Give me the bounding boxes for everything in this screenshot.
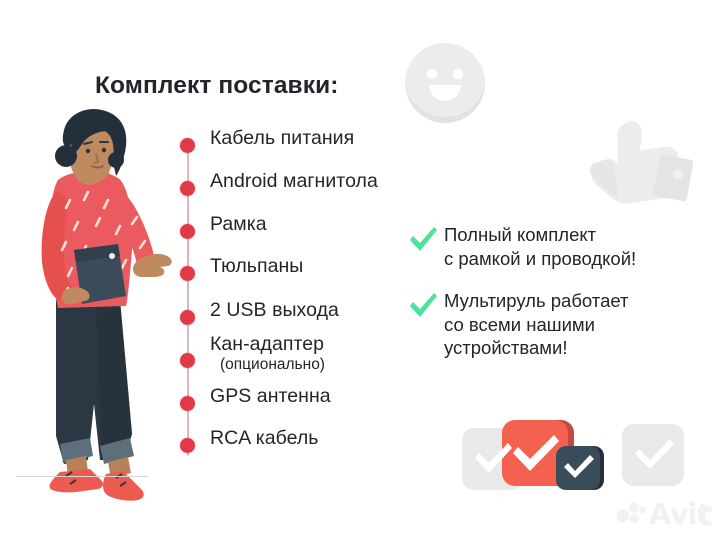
- bullet-dot-icon: [180, 353, 195, 368]
- list-item-label: Тюльпаны: [210, 255, 303, 278]
- woman-with-tablet-illustration: [8, 104, 184, 504]
- smiley-face-icon: [404, 42, 486, 124]
- list-item-label: Android магнитола: [210, 170, 378, 193]
- list-item-label: Кан-адаптер: [210, 333, 324, 356]
- package-list: Кабель питания Android магнитола Рамка Т…: [176, 138, 436, 462]
- check-icon: [632, 438, 676, 472]
- page-title: Комплект поставки:: [95, 72, 339, 100]
- bullet-dot-icon: [180, 138, 195, 153]
- benefit-text: Мультируль работает со всеми нашими устр…: [444, 289, 629, 360]
- bullet-dot-icon: [180, 438, 195, 453]
- benefit-text: Полный комплект с рамкой и проводкой!: [444, 223, 636, 270]
- checkbox-tiles-illustration: [462, 412, 684, 494]
- ground-line: [16, 476, 148, 477]
- check-icon: [408, 292, 438, 320]
- promo-card: Комплект поставки: Кабель питания Androi…: [0, 0, 720, 540]
- list-item-note: (опционально): [220, 356, 325, 374]
- check-icon: [510, 434, 562, 474]
- list-item-label: Кабель питания: [210, 127, 354, 150]
- check-icon: [408, 226, 438, 254]
- list-item-label: Рамка: [210, 213, 267, 236]
- bullet-dot-icon: [180, 266, 195, 281]
- check-icon: [472, 442, 514, 476]
- bullet-dot-icon: [180, 310, 195, 325]
- list-item-label: RCA кабель: [210, 427, 319, 450]
- bullet-dot-icon: [180, 224, 195, 239]
- thumbs-up-icon: [578, 110, 694, 218]
- list-item-label: 2 USB выхода: [210, 299, 339, 322]
- list-item-label: GPS антенна: [210, 385, 331, 408]
- avito-watermark: [616, 500, 712, 526]
- bullet-dot-icon: [180, 396, 195, 411]
- bullet-dot-icon: [180, 181, 195, 196]
- check-icon: [562, 454, 596, 482]
